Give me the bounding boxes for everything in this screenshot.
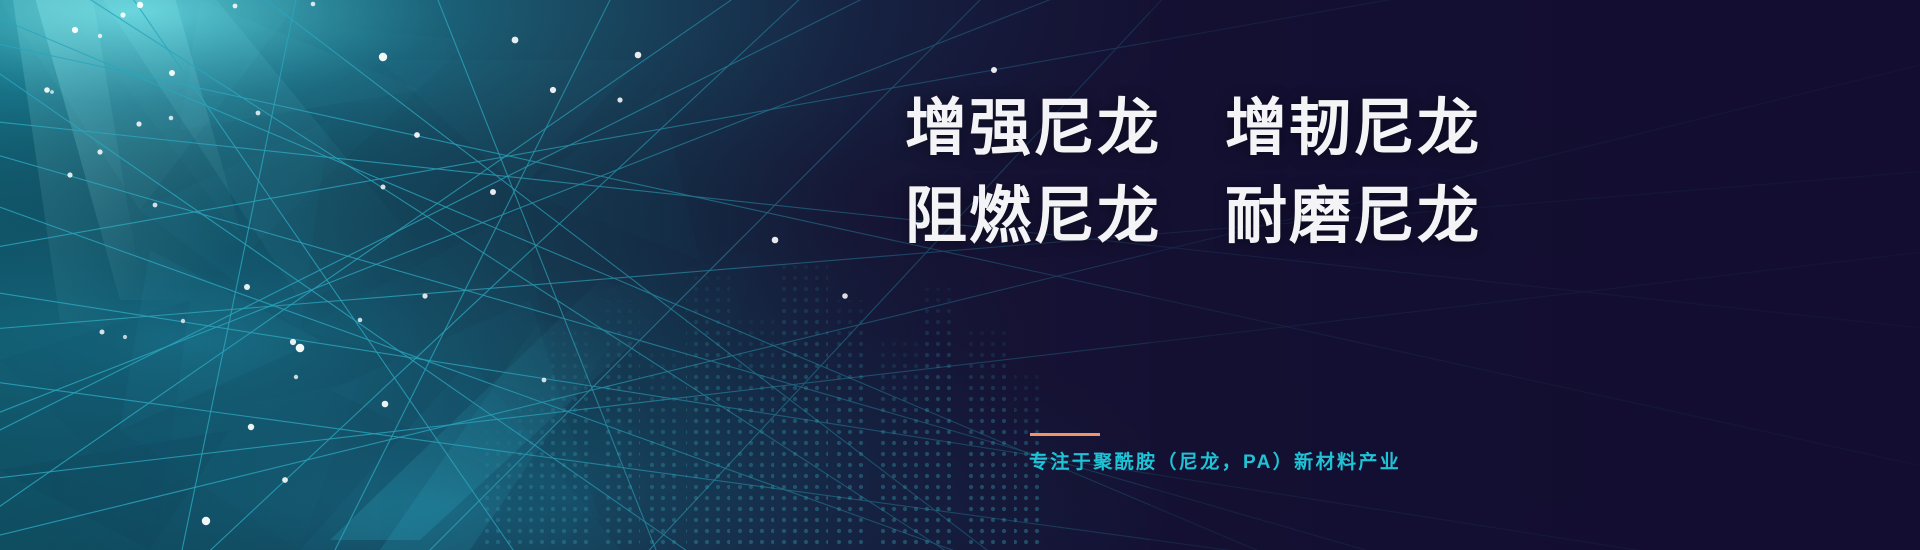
background-graphic [0,0,1920,550]
dotted-city-skyline-halftone [430,240,1070,550]
hero-banner: 增强尼龙 增韧尼龙 阻燃尼龙 耐磨尼龙 专注于聚酰胺（尼龙，PA）新材料产业 [0,0,1920,550]
background-artwork [0,0,1920,550]
